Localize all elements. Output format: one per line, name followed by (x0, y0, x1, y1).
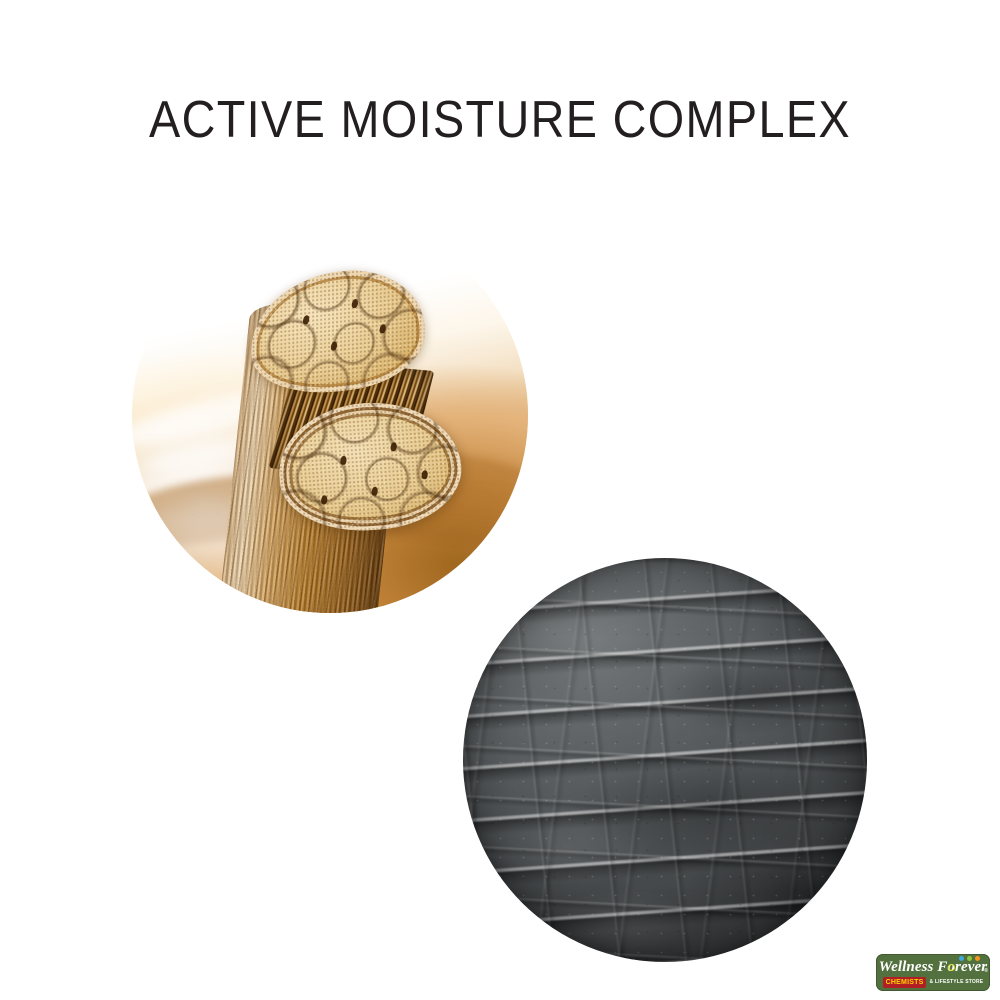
logo-wordmark: Wellness Forever® (876, 959, 990, 975)
cortex-cell-mosaic (251, 263, 424, 401)
logo-tagline: CHEMISTS & LIFESTYLE STORE (876, 977, 990, 988)
logo-lifestyle-text: & LIFESTYLE STORE (929, 979, 983, 986)
logo-plate: Wellness Forever® CHEMISTS & LIFESTYLE S… (876, 954, 990, 991)
poster-canvas: ACTIVE MOISTURE COMPLEX (0, 0, 1000, 1000)
page-title: ACTIVE MOISTURE COMPLEX (50, 92, 950, 148)
hair-fiber-cross-section-image (132, 217, 528, 613)
cell-nucleus (390, 442, 397, 452)
wellness-forever-logo[interactable]: Wellness Forever® CHEMISTS & LIFESTYLE S… (872, 946, 994, 994)
upper-cut-face (251, 263, 424, 401)
cell-nucleus (339, 455, 346, 465)
cortex-cell-mosaic (274, 397, 465, 536)
cell-nucleus (421, 470, 428, 480)
cuticle-scales-sem-image (463, 558, 867, 962)
logo-wordmark-part2: rever (955, 959, 987, 975)
sem-vignette (463, 558, 867, 962)
cell-nucleus (320, 495, 327, 505)
logo-wordmark-part1: Wellness F (879, 959, 948, 975)
cell-nucleus (371, 486, 378, 496)
logo-chemists-badge: CHEMISTS (883, 977, 927, 988)
logo-o-ring-icon: o (947, 959, 955, 975)
lower-cut-face (274, 397, 465, 536)
